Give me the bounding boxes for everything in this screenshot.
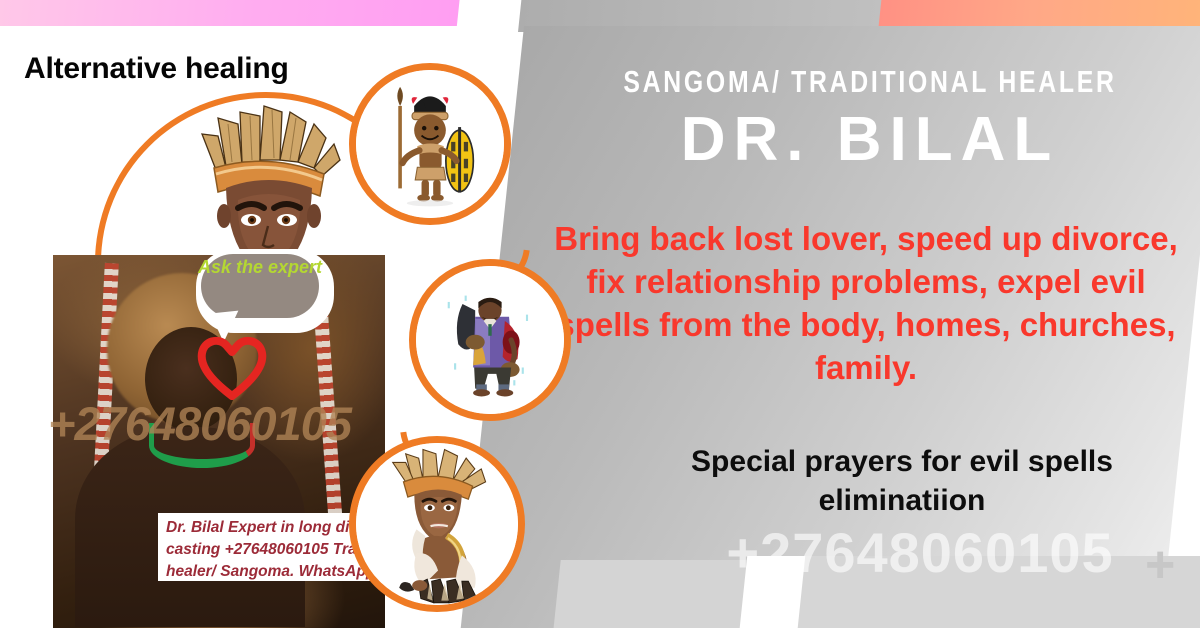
heart-icon: [196, 334, 268, 400]
circle-zulu-warrior: [349, 63, 511, 225]
page-title: DR. BILAL: [560, 104, 1180, 175]
phone-watermark-right: +27648060105: [640, 520, 1200, 585]
circle-traditional-healer: [409, 259, 571, 421]
circle-kneeling-sangoma: [349, 436, 525, 612]
pink-banner: [0, 0, 460, 26]
kicker-text: SANGOMA/ TRADITIONAL HEALER: [622, 64, 1118, 100]
speech-bubble-label: Ask the expert: [196, 256, 324, 279]
services-text: Bring back lost lover, speed up divorce,…: [546, 218, 1186, 390]
special-prayers-text: Special prayers for evil spells eliminat…: [612, 442, 1192, 520]
alternative-healing-heading: Alternative healing: [24, 52, 289, 86]
phone-watermark-photo: +27648060105: [48, 396, 448, 451]
poster-canvas: + SANGOMA/ TRADITIONAL HEALER DR. BILAL …: [0, 0, 1200, 628]
